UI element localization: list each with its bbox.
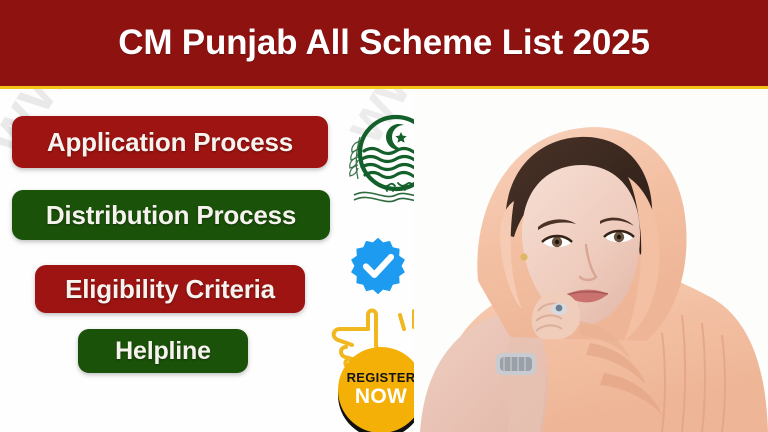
poster: CM Punjab All Scheme List 2025 www. www.… — [0, 0, 768, 432]
page-title: CM Punjab All Scheme List 2025 — [118, 23, 649, 63]
now-label: NOW — [355, 386, 407, 408]
register-label: REGISTER — [347, 371, 416, 384]
eligibility-criteria-button[interactable]: Eligibility Criteria — [35, 265, 305, 313]
cm-punjab-portrait — [414, 89, 768, 432]
register-now-button[interactable]: REGISTER NOW — [338, 347, 424, 432]
helpline-label: Helpline — [115, 337, 211, 366]
verified-check-badge-icon — [348, 236, 408, 296]
eligibility-criteria-label: Eligibility Criteria — [65, 274, 275, 305]
distribution-process-label: Distribution Process — [46, 200, 296, 231]
application-process-button[interactable]: Application Process — [12, 116, 328, 168]
content-stage: www. www. Application Process Distributi… — [0, 89, 768, 432]
application-process-label: Application Process — [47, 127, 293, 158]
helpline-button[interactable]: Helpline — [78, 329, 248, 373]
header-banner: CM Punjab All Scheme List 2025 — [0, 0, 768, 86]
distribution-process-button[interactable]: Distribution Process — [12, 190, 330, 240]
